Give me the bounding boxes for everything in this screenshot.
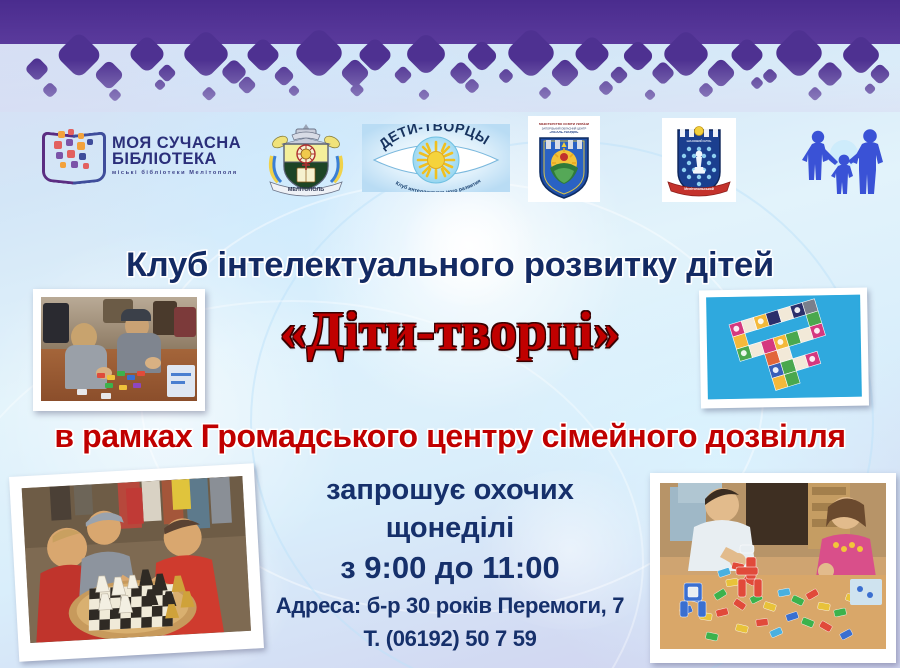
svg-text:Мелітопольський: Мелітопольський [684, 187, 714, 191]
logo1-line2: БІБЛІОТЕКА [112, 152, 241, 168]
logo-melitopol-coat-of-arms: МЕЛІТОПОЛЬ [262, 118, 350, 198]
logo-row: МОЯ СУЧАСНА БІБЛІОТЕКА міські бібліотеки… [0, 108, 900, 206]
frequency-line: щонеділі [0, 512, 900, 545]
logo-moya-suchasna-biblioteka: МОЯ СУЧАСНА БІБЛІОТЕКА міські бібліотеки… [42, 120, 257, 192]
phone-line: Т. (06192) 50 7 59 [0, 626, 900, 652]
logo-family-silhouette [796, 124, 892, 196]
invite-line: запрошує охочих [0, 474, 900, 507]
coat-of-arms-ribbon-text: МЕЛІТОПОЛЬ [288, 187, 324, 193]
page-subtitle: в рамках Громадського центру сімейного д… [0, 418, 900, 455]
poster-canvas: МОЯ СУЧАСНА БІБЛІОТЕКА міські бібліотеки… [0, 0, 900, 668]
svg-text:ШАХОВИЙ КЛУБ: ШАХОВИЙ КЛУБ [687, 139, 713, 143]
family-icon [802, 129, 883, 194]
purple-diamond-band [0, 0, 900, 112]
time-line: з 9:00 до 11:00 [0, 550, 900, 586]
logo1-tagline: міські бібліотеки Мелітополя [112, 171, 241, 176]
page-title: Клуб інтелектуального розвитку дітей [0, 246, 900, 285]
logo-deti-tvortsy: ДЕТИ-ТВОРЦЫ Клуб интеллектуального разви… [362, 124, 510, 192]
sun-eye-icon [418, 142, 454, 178]
open-book-icon [42, 129, 106, 183]
club-name: «Діти-творці» [0, 300, 900, 362]
logo-blue-shield-emblem: МІНІСТЕРСТВО ОСВІТИ УКРАЇНИ ЗАПОРІЗЬКИЙ … [528, 116, 600, 202]
logo-chess-club-emblem: ШАХОВИЙ КЛУБ Мелітопольський [662, 118, 736, 202]
coat-of-arms-icon: МЕЛІТОПОЛЬ [270, 124, 342, 196]
address-line: Адреса: б-р 30 років Перемоги, 7 [0, 593, 900, 619]
svg-text:«ЮНАЛЬ-ГВАРДІЯ»: «ЮНАЛЬ-ГВАРДІЯ» [550, 130, 579, 134]
svg-text:МІНІСТЕРСТВО ОСВІТИ УКРАЇНИ: МІНІСТЕРСТВО ОСВІТИ УКРАЇНИ [539, 122, 590, 126]
